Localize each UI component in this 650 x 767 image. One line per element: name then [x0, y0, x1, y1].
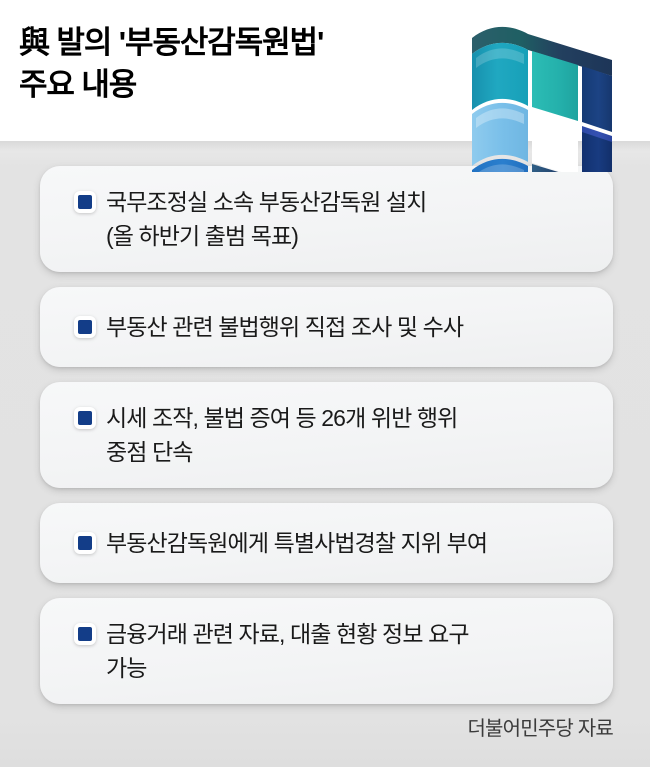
source-attribution: 더불어민주당 자료	[467, 712, 613, 741]
content-card-text: 부동산감독원에게 특별사법경찰 지위 부여	[106, 526, 487, 560]
content-card-text: 금융거래 관련 자료, 대출 현황 정보 요구 가능	[106, 617, 469, 685]
source-text: 더불어민주당 자료	[467, 718, 613, 740]
square-bullet-fill	[78, 411, 92, 425]
content-card: 시세 조작, 불법 증여 등 26개 위반 행위 중점 단속	[40, 382, 613, 488]
infographic-root: 與 발의 '부동산감독원법' 주요 내용	[0, 0, 650, 767]
square-bullet-icon	[74, 532, 96, 554]
square-bullet-icon	[74, 623, 96, 645]
title-line-1: 與 발의 '부동산감독원법'	[19, 22, 449, 64]
square-bullet-icon	[74, 407, 96, 429]
content-card: 국무조정실 소속 부동산감독원 설치 (올 하반기 출범 목표)	[40, 166, 613, 272]
content-card-list: 국무조정실 소속 부동산감독원 설치 (올 하반기 출범 목표) 부동산 관련 …	[40, 166, 613, 719]
content-card: 부동산감독원에게 특별사법경찰 지위 부여	[40, 503, 613, 583]
content-card-text: 국무조정실 소속 부동산감독원 설치 (올 하반기 출범 목표)	[106, 185, 426, 253]
title-line-2: 주요 내용	[19, 64, 449, 106]
square-bullet-fill	[78, 536, 92, 550]
content-card: 금융거래 관련 자료, 대출 현황 정보 요구 가능	[40, 598, 613, 704]
content-card-text: 시세 조작, 불법 증여 등 26개 위반 행위 중점 단속	[106, 401, 457, 469]
square-bullet-fill	[78, 195, 92, 209]
square-bullet-icon	[74, 316, 96, 338]
page-title: 與 발의 '부동산감독원법' 주요 내용	[19, 22, 449, 106]
square-bullet-icon	[74, 191, 96, 213]
content-card: 부동산 관련 불법행위 직접 조사 및 수사	[40, 287, 613, 367]
square-bullet-fill	[78, 627, 92, 641]
square-bullet-fill	[78, 320, 92, 334]
content-card-text: 부동산 관련 불법행위 직접 조사 및 수사	[106, 310, 463, 344]
wavy-flag-grid-icon	[466, 14, 612, 172]
